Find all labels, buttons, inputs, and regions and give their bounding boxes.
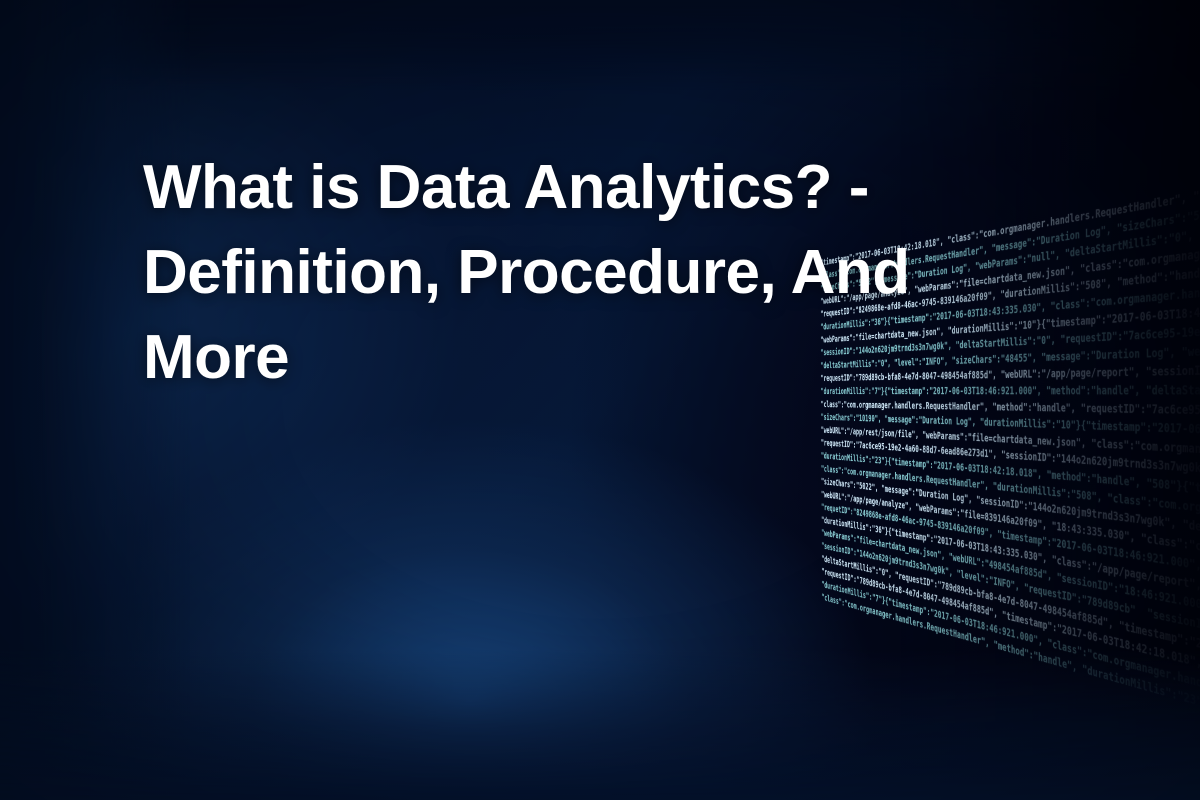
article-hero-banner: "timestamp":"2017-06-03T18:42:18.018", "… [0, 0, 1200, 800]
page-title-line-3: More [143, 315, 1103, 400]
code-wall-backdrop: "timestamp":"2017-06-03T18:42:18.018", "… [0, 0, 1200, 800]
page-title: What is Data Analytics? - Definition, Pr… [143, 145, 1103, 400]
page-title-line-1: What is Data Analytics? - [143, 145, 1103, 230]
page-title-line-2: Definition, Procedure, And [143, 230, 1103, 315]
